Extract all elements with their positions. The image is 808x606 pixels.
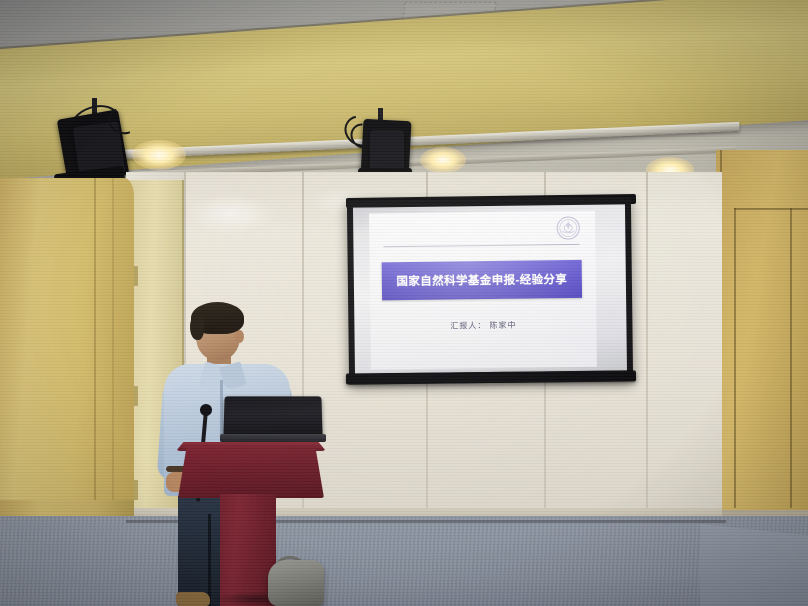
podium-desk bbox=[178, 446, 324, 498]
photo-scene: 国家自然科学基金申报-经验分享 汇报人： 陈家中 bbox=[0, 0, 808, 606]
slide-presenter-line: 汇报人： 陈家中 bbox=[370, 319, 596, 333]
projection-screen: 国家自然科学基金申报-经验分享 汇报人： 陈家中 bbox=[347, 197, 633, 384]
presenter-hair-side bbox=[190, 314, 204, 340]
gooseneck-microphone-head bbox=[200, 404, 212, 416]
slide-title: 国家自然科学基金申报-经验分享 bbox=[396, 271, 567, 289]
wall-light-glare bbox=[186, 194, 276, 234]
gold-wall-panel-line bbox=[790, 208, 792, 508]
presenter-ear bbox=[235, 330, 244, 343]
slide-divider-rule bbox=[383, 244, 579, 247]
carpet-floor bbox=[0, 516, 808, 606]
slide-title-bar: 国家自然科学基金申报-经验分享 bbox=[382, 260, 582, 300]
floor-bag bbox=[268, 560, 324, 606]
right-gold-wall bbox=[716, 150, 808, 510]
presentation-slide: 国家自然科学基金申报-经验分享 汇报人： 陈家中 bbox=[369, 211, 597, 370]
university-seal-logo bbox=[555, 215, 581, 241]
gold-wall-panel-line bbox=[734, 208, 808, 210]
laptop-base bbox=[220, 434, 326, 442]
laptop-computer[interactable] bbox=[223, 396, 322, 436]
gold-wall-panel-line bbox=[734, 208, 736, 508]
wall-panel-seam bbox=[646, 172, 648, 524]
projection-screen-surface: 国家自然科学基金申报-经验分享 汇报人： 陈家中 bbox=[353, 204, 627, 373]
carpet-floor-right bbox=[700, 524, 808, 606]
